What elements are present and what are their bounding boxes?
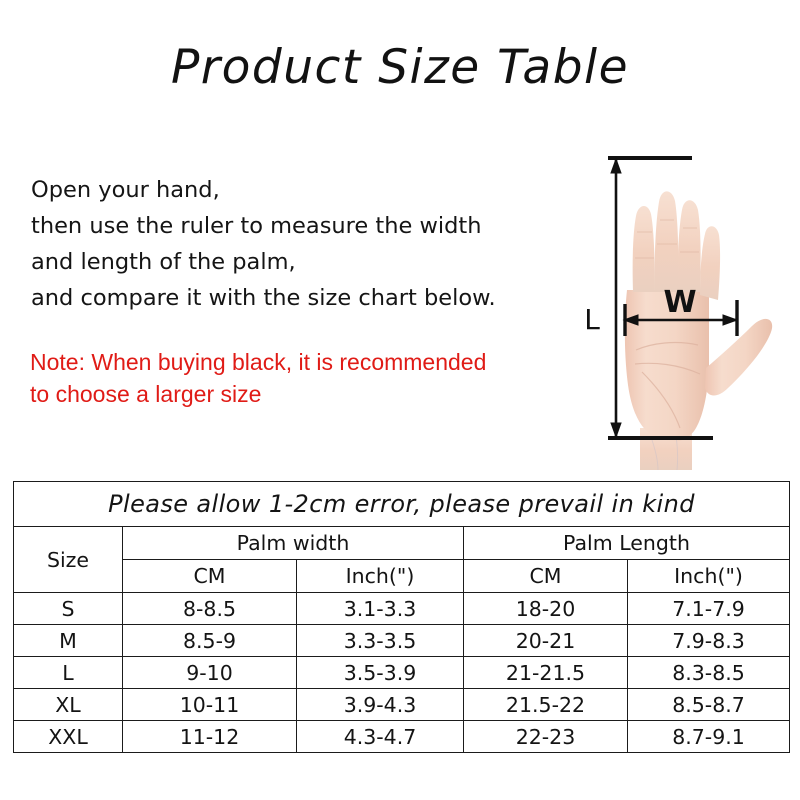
instruction-line-2: then use the ruler to measure the width (31, 208, 606, 244)
header-length-cm: CM (464, 560, 628, 593)
table-row: L 9-10 3.5-3.9 21-21.5 8.3-8.5 (14, 657, 790, 689)
cell-size: XL (14, 689, 123, 721)
cell-width-inch: 3.5-3.9 (297, 657, 464, 689)
width-arrow-head-right (723, 315, 737, 325)
header-size: Size (14, 527, 123, 593)
table-row-error-note: Please allow 1-2cm error, please prevail… (14, 482, 790, 527)
hand-measurement-diagram: L W (580, 140, 795, 470)
header-width-inch: Inch(") (297, 560, 464, 593)
header-length-inch: Inch(") (628, 560, 790, 593)
warning-note-line-1: Note: When buying black, it is recommend… (30, 346, 610, 378)
cell-width-inch: 4.3-4.7 (297, 721, 464, 753)
cell-length-inch: 8.5-8.7 (628, 689, 790, 721)
cell-width-cm: 8.5-9 (123, 625, 297, 657)
instruction-line-1: Open your hand, (31, 172, 606, 208)
page-title: Product Size Table (0, 40, 800, 96)
cell-width-cm: 9-10 (123, 657, 297, 689)
cell-length-cm: 20-21 (464, 625, 628, 657)
cell-size: L (14, 657, 123, 689)
cell-size: S (14, 593, 123, 625)
header-palm-length: Palm Length (464, 527, 790, 560)
length-arrow-head-top (611, 159, 621, 173)
cell-width-inch: 3.9-4.3 (297, 689, 464, 721)
cell-length-cm: 21.5-22 (464, 689, 628, 721)
cell-length-cm: 21-21.5 (464, 657, 628, 689)
hand-illustration (625, 191, 772, 470)
cell-width-cm: 11-12 (123, 721, 297, 753)
cell-size: M (14, 625, 123, 657)
cell-width-cm: 8-8.5 (123, 593, 297, 625)
instruction-line-4: and compare it with the size chart below… (31, 280, 606, 316)
table-row-group-header: Size Palm width Palm Length (14, 527, 790, 560)
length-label: L (584, 303, 600, 336)
cell-length-cm: 18-20 (464, 593, 628, 625)
warning-note-line-2: to choose a larger size (30, 378, 610, 410)
cell-length-inch: 7.9-8.3 (628, 625, 790, 657)
size-guide-page: Product Size Table Open your hand, then … (0, 0, 800, 800)
cell-length-inch: 8.7-9.1 (628, 721, 790, 753)
table-row: S 8-8.5 3.1-3.3 18-20 7.1-7.9 (14, 593, 790, 625)
table-row: XL 10-11 3.9-4.3 21.5-22 8.5-8.7 (14, 689, 790, 721)
header-palm-width: Palm width (123, 527, 464, 560)
cell-length-inch: 7.1-7.9 (628, 593, 790, 625)
instruction-text: Open your hand, then use the ruler to me… (31, 172, 606, 316)
cell-width-inch: 3.3-3.5 (297, 625, 464, 657)
error-note-cell: Please allow 1-2cm error, please prevail… (14, 482, 790, 527)
warning-note: Note: When buying black, it is recommend… (30, 346, 610, 410)
header-width-cm: CM (123, 560, 297, 593)
table-row: M 8.5-9 3.3-3.5 20-21 7.9-8.3 (14, 625, 790, 657)
cell-size: XXL (14, 721, 123, 753)
cell-width-cm: 10-11 (123, 689, 297, 721)
table-row: XXL 11-12 4.3-4.7 22-23 8.7-9.1 (14, 721, 790, 753)
cell-length-cm: 22-23 (464, 721, 628, 753)
cell-width-inch: 3.1-3.3 (297, 593, 464, 625)
length-arrow-head-bottom (611, 423, 621, 437)
table-row-unit-header: CM Inch(") CM Inch(") (14, 560, 790, 593)
size-chart-table: Please allow 1-2cm error, please prevail… (13, 481, 790, 753)
cell-length-inch: 8.3-8.5 (628, 657, 790, 689)
width-label: W (663, 285, 696, 320)
instruction-line-3: and length of the palm, (31, 244, 606, 280)
